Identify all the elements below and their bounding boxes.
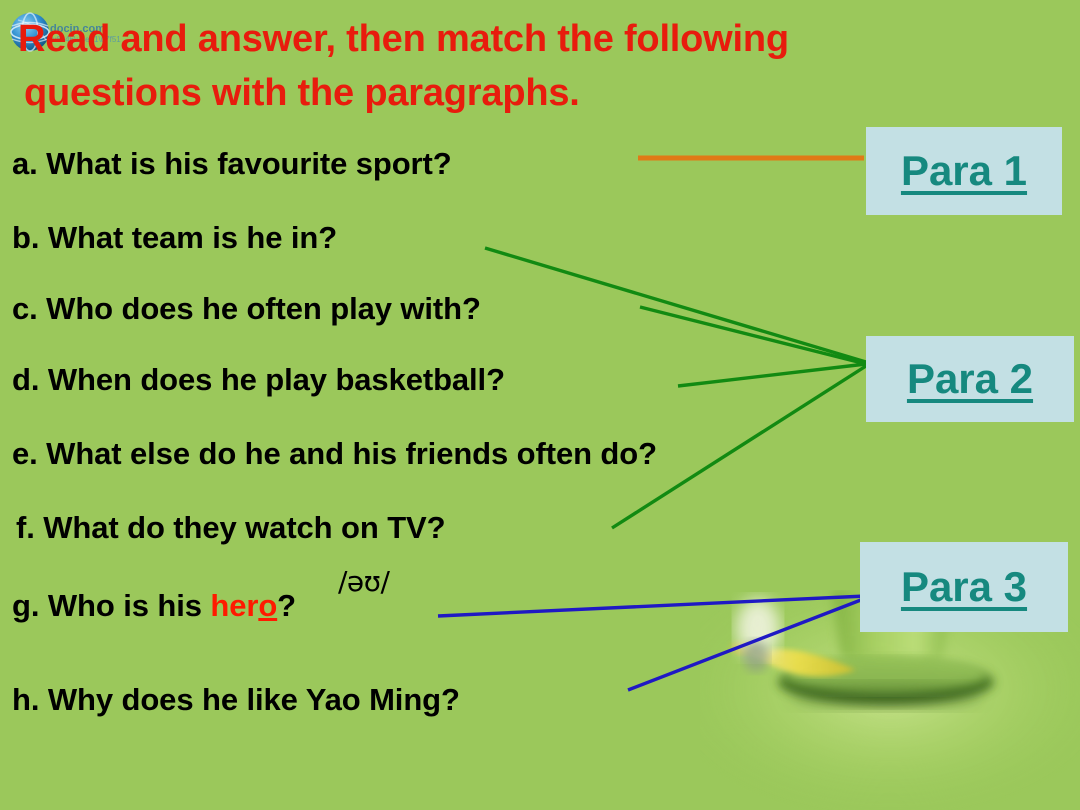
question-a: a. What is his favourite sport? bbox=[12, 146, 452, 182]
connector-d-to-para2 bbox=[678, 364, 866, 386]
question-c: c. Who does he often play with? bbox=[12, 291, 481, 327]
question-g-keyword-stem: her bbox=[210, 588, 258, 623]
question-g-keyword-underlined-letter: o bbox=[258, 588, 277, 623]
para-3-box[interactable]: Para 3 bbox=[860, 542, 1068, 632]
slide-canvas: docin.com \u8c46\u4e01\u7f51 Read and an… bbox=[0, 0, 1080, 810]
para-3-label: Para 3 bbox=[901, 563, 1027, 611]
connector-h-to-para3 bbox=[628, 598, 866, 690]
question-f: f. What do they watch on TV? bbox=[16, 510, 445, 546]
connector-c-to-para2 bbox=[640, 307, 866, 364]
question-g-prefix: g. Who is his bbox=[12, 588, 210, 623]
connector-g-to-para3 bbox=[438, 596, 866, 616]
question-e: e. What else do he and his friends often… bbox=[12, 436, 657, 472]
slide-title: Read and answer, then match the followin… bbox=[18, 12, 1028, 121]
question-g-suffix: ? bbox=[277, 588, 296, 623]
slide-title-line-1: Read and answer, then match the followin… bbox=[18, 12, 1028, 66]
question-g-keyword: hero bbox=[210, 588, 277, 623]
para-1-box[interactable]: Para 1 bbox=[866, 127, 1062, 215]
phonetic-annotation: /əʊ/ bbox=[338, 565, 389, 598]
para-2-label: Para 2 bbox=[907, 355, 1033, 403]
connector-b-to-para2 bbox=[485, 248, 866, 362]
question-g: g. Who is his hero? bbox=[12, 588, 296, 624]
question-b: b. What team is he in? bbox=[12, 220, 337, 256]
para-2-box[interactable]: Para 2 bbox=[866, 336, 1074, 422]
slide-title-line-2: questions with the paragraphs. bbox=[18, 66, 1028, 120]
para-1-label: Para 1 bbox=[901, 147, 1027, 195]
question-h: h. Why does he like Yao Ming? bbox=[12, 682, 460, 718]
question-d: d. When does he play basketball? bbox=[12, 362, 505, 398]
